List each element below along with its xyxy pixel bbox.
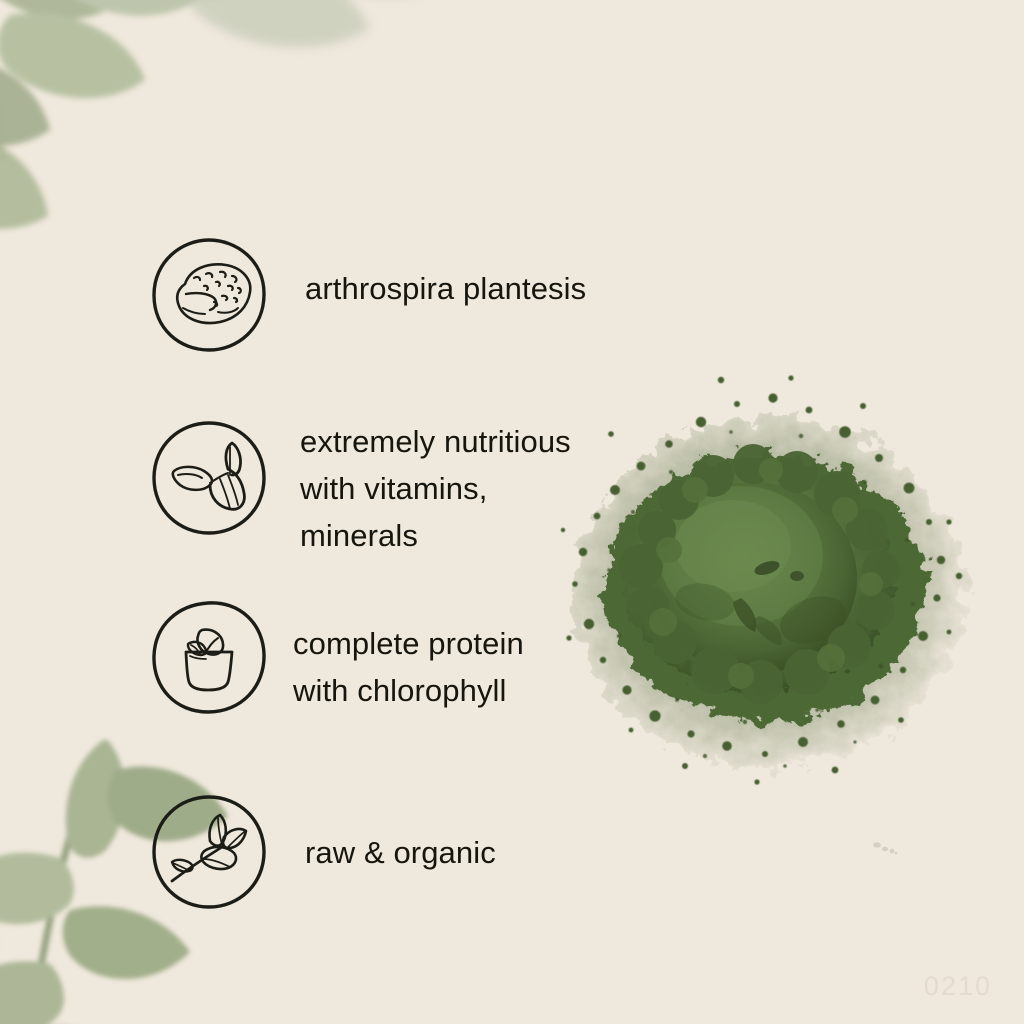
poster-canvas: arthrospira plantesis extremely nutritio… [0, 0, 1024, 1024]
leaf-bowl-icon [150, 419, 268, 537]
leaf-decoration-top-left [0, 0, 360, 240]
algae-blob-icon [150, 236, 268, 354]
seedling-branch-icon [150, 793, 268, 911]
feature-label-1: arthrospira plantesis [305, 265, 586, 312]
sprout-cup-icon [150, 598, 268, 716]
feature-label-4: raw & organic [305, 829, 496, 876]
spirulina-powder-mound [545, 370, 995, 825]
leaf-decoration-top-middle [150, 0, 470, 140]
watermark-number: 0210 [924, 971, 992, 1002]
powder-speck [868, 838, 902, 858]
feature-label-3: complete protein with chlorophyll [293, 620, 524, 714]
feature-label-2: extremely nutritious with vitamins, mine… [300, 418, 571, 559]
